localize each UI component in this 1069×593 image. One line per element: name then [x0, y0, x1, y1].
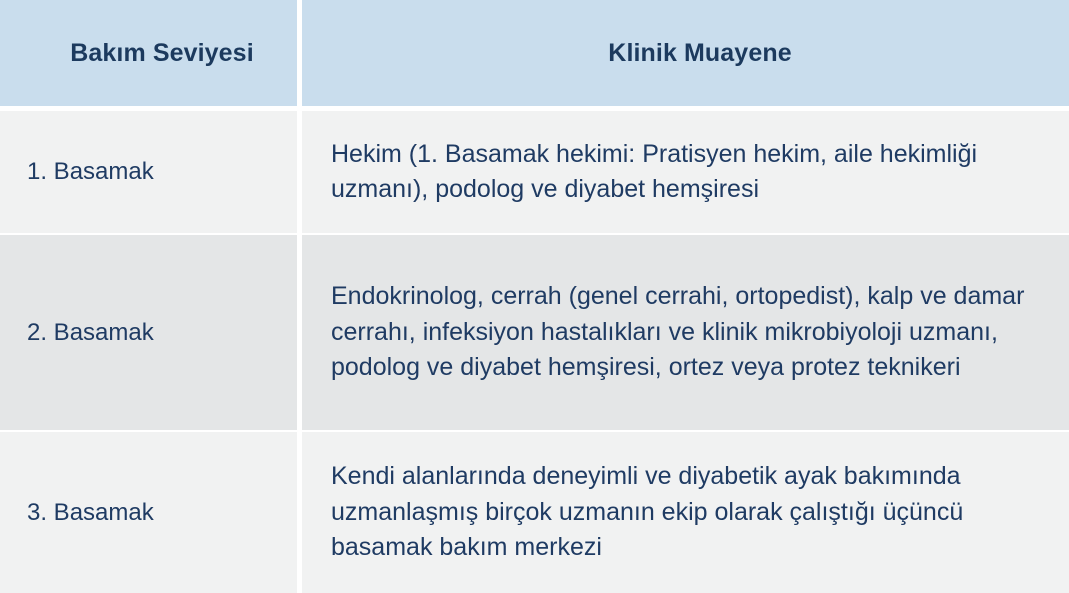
cell-care-level: 3. Basamak: [0, 432, 297, 593]
table-row: 2. Basamak Endokrinolog, cerrah (genel c…: [0, 235, 1069, 430]
cell-care-level: 1. Basamak: [0, 111, 297, 233]
column-header-clinical-examination: Klinik Muayene: [302, 0, 1069, 106]
cell-clinical-examination: Kendi alanlarında deneyimli ve diyabetik…: [302, 432, 1069, 593]
cell-clinical-examination: Endokrinolog, cerrah (genel cerrahi, ort…: [302, 235, 1069, 430]
table-row: 3. Basamak Kendi alanlarında deneyimli v…: [0, 432, 1069, 593]
cell-clinical-examination: Hekim (1. Basamak hekimi: Pratisyen heki…: [302, 111, 1069, 233]
table-row: 1. Basamak Hekim (1. Basamak hekimi: Pra…: [0, 111, 1069, 233]
column-header-care-level: Bakım Seviyesi: [0, 0, 297, 106]
care-levels-table: Bakım Seviyesi Klinik Muayene 1. Basamak…: [0, 0, 1069, 593]
table-header-row: Bakım Seviyesi Klinik Muayene: [0, 0, 1069, 106]
cell-care-level: 2. Basamak: [0, 235, 297, 430]
